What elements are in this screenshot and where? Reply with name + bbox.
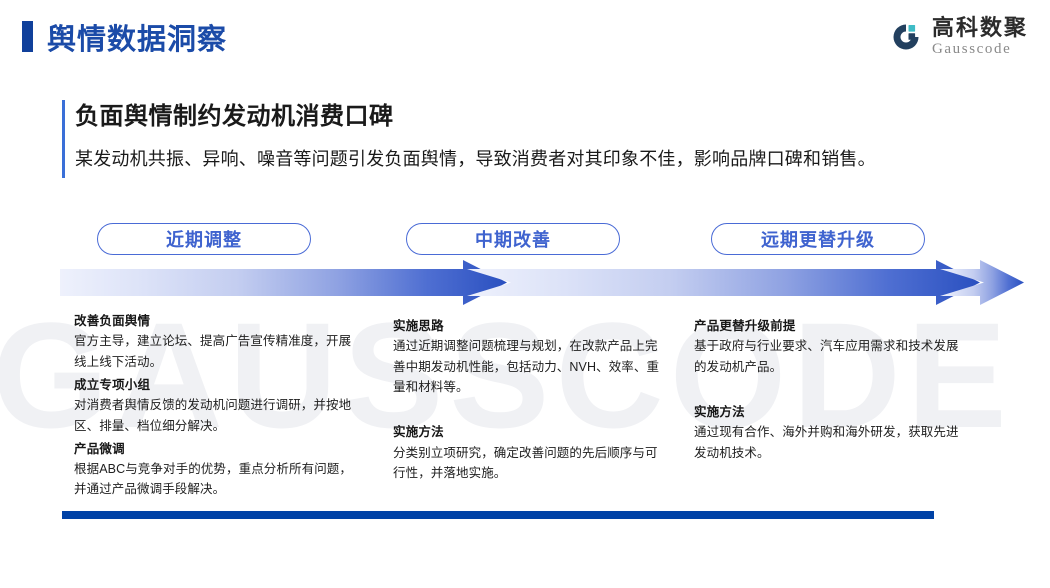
content-block: 成立专项小组 对消费者舆情反馈的发动机问题进行调研，并按地区、排量、档位细分解决…: [74, 376, 359, 436]
block-heading: 成立专项小组: [74, 376, 359, 395]
block-heading: 产品微调: [74, 440, 359, 459]
header-accent-bar: [22, 21, 33, 52]
content-block: 实施方法 分类别立项研究，确定改善问题的先后顺序与可行性，并落地实施。: [393, 423, 661, 483]
lead-heading: 负面舆情制约发动机消费口碑: [75, 96, 394, 131]
footer-bar: [62, 511, 934, 519]
content-block: 实施思路 通过近期调整问题梳理与规划，在改款产品上完善中期发动机性能，包括动力、…: [393, 317, 661, 397]
block-body: 官方主导，建立论坛、提高广告宣传精准度，开展线上线下活动。: [74, 331, 359, 372]
block-heading: 产品更替升级前提: [694, 317, 962, 336]
lead-accent-rule: [62, 100, 65, 178]
block-body: 通过近期调整问题梳理与规划，在改款产品上完善中期发动机性能，包括动力、NVH、效…: [393, 336, 661, 397]
slide-header: 舆情数据洞察 高科数聚 Gausscode: [0, 0, 1050, 72]
block-heading: 实施方法: [694, 403, 962, 422]
content-block: 产品更替升级前提 基于政府与行业要求、汽车应用需求和技术发展的发动机产品。: [694, 317, 962, 377]
phase-pill-near-term[interactable]: 近期调整: [97, 223, 311, 255]
block-spacer: [393, 401, 661, 423]
logo-english-name: Gausscode: [932, 42, 1028, 57]
progression-arrow: [60, 258, 1035, 310]
block-spacer: [694, 381, 962, 403]
slide-root: GAUSSCODE 舆情数据洞察 高科数聚 Gausscode 负面舆情制约发动…: [0, 0, 1050, 588]
block-body: 分类别立项研究，确定改善问题的先后顺序与可行性，并落地实施。: [393, 443, 661, 484]
phase-pill-long-term[interactable]: 远期更替升级: [711, 223, 925, 255]
page-title: 舆情数据洞察: [47, 16, 227, 58]
block-heading: 改善负面舆情: [74, 312, 359, 331]
content-block: 改善负面舆情 官方主导，建立论坛、提高广告宣传精准度，开展线上线下活动。: [74, 312, 359, 372]
block-body: 根据ABC与竞争对手的优势，重点分析所有问题，并通过产品微调手段解决。: [74, 459, 359, 500]
column-near-term: 改善负面舆情 官方主导，建立论坛、提高广告宣传精准度，开展线上线下活动。 成立专…: [74, 312, 359, 504]
gausscode-logo-icon: [890, 21, 923, 54]
block-body: 对消费者舆情反馈的发动机问题进行调研，并按地区、排量、档位细分解决。: [74, 395, 359, 436]
column-long-term: 产品更替升级前提 基于政府与行业要求、汽车应用需求和技术发展的发动机产品。 实施…: [694, 317, 962, 467]
block-body: 基于政府与行业要求、汽车应用需求和技术发展的发动机产品。: [694, 336, 962, 377]
block-heading: 实施思路: [393, 317, 661, 336]
column-mid-term: 实施思路 通过近期调整问题梳理与规划，在改款产品上完善中期发动机性能，包括动力、…: [393, 317, 661, 487]
content-block: 产品微调 根据ABC与竞争对手的优势，重点分析所有问题，并通过产品微调手段解决。: [74, 440, 359, 500]
brand-logo: 高科数聚 Gausscode: [890, 16, 1028, 58]
logo-wordmark: 高科数聚 Gausscode: [932, 17, 1028, 57]
content-block: 实施方法 通过现有合作、海外并购和海外研发，获取先进发动机技术。: [694, 403, 962, 463]
block-body: 通过现有合作、海外并购和海外研发，获取先进发动机技术。: [694, 422, 962, 463]
block-heading: 实施方法: [393, 423, 661, 442]
lead-paragraph: 某发动机共振、异响、噪音等问题引发负面舆情，导致消费者对其印象不佳，影响品牌口碑…: [75, 145, 876, 171]
phase-pill-mid-term[interactable]: 中期改善: [406, 223, 620, 255]
logo-chinese-name: 高科数聚: [932, 17, 1028, 39]
